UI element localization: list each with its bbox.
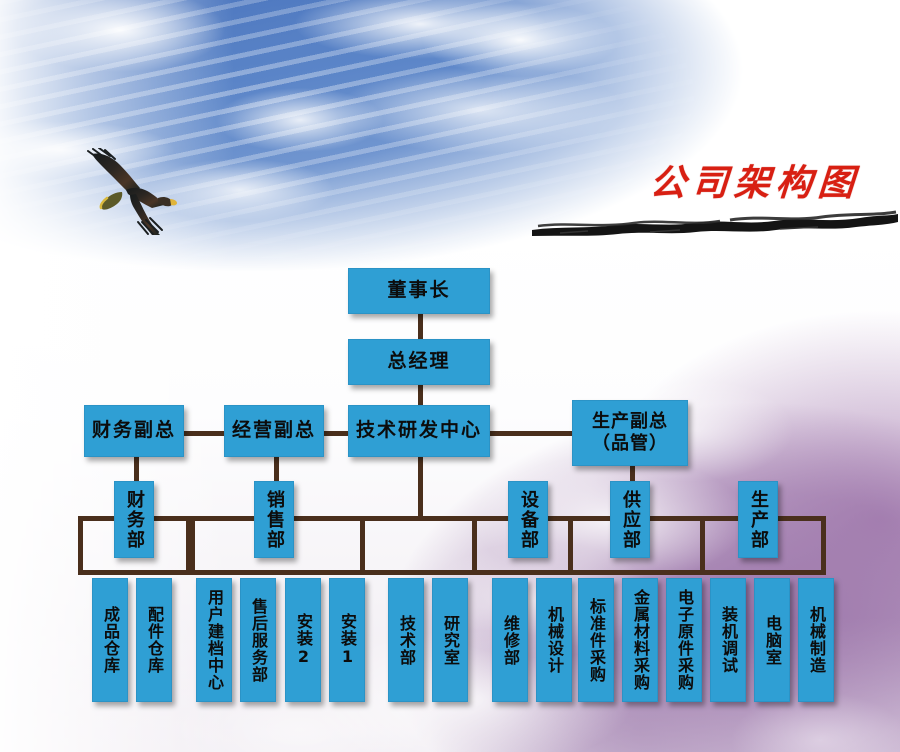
node-customer-filing-center[interactable]: 用户建档中心: [196, 578, 232, 702]
node-finance-dept[interactable]: 财务部: [114, 481, 154, 558]
connector-chairman-to-gm: [418, 312, 423, 340]
connector-ops-vp-drop: [274, 456, 279, 484]
connector-gm-to-rnd: [418, 384, 423, 406]
node-finance-vp[interactable]: 财务副总: [84, 405, 184, 457]
node-label: 电子原件采购: [676, 589, 692, 691]
connector-bracket-equip-end: [568, 516, 573, 572]
node-label: 机械制造: [808, 606, 824, 674]
node-label: 总经理: [387, 350, 450, 374]
connector-finance-vp-drop: [134, 456, 139, 484]
node-production-vp[interactable]: 生产副总 （品管）: [572, 400, 688, 466]
node-parts-warehouse[interactable]: 配件仓库: [136, 578, 172, 702]
connector-leaf-bus-supply: [568, 570, 704, 575]
node-label: 维修部: [502, 615, 518, 666]
node-finished-goods-warehouse[interactable]: 成品仓库: [92, 578, 128, 702]
connector-leaf-bus-rnd: [360, 570, 476, 575]
node-label: 机械设计: [546, 606, 562, 674]
node-metal-material-procurement[interactable]: 金属材料采购: [622, 578, 658, 702]
node-label: 装机调试: [720, 606, 736, 674]
node-electronic-components-procurement[interactable]: 电子原件采购: [666, 578, 702, 702]
node-computer-room[interactable]: 电脑室: [754, 578, 790, 702]
node-rnd-center[interactable]: 技术研发中心: [348, 405, 490, 457]
node-label: 董事长: [387, 279, 450, 303]
node-research-lab[interactable]: 研究室: [432, 578, 468, 702]
screenshot-stage: 公司架构图: [0, 0, 900, 752]
node-standard-parts-procurement[interactable]: 标准件采购: [578, 578, 614, 702]
connector-leaf-bus-sales: [190, 570, 365, 575]
node-operations-vp[interactable]: 经营副总: [224, 405, 324, 457]
node-after-sales-service-dept[interactable]: 售后服务部: [240, 578, 276, 702]
node-label: 研究室: [442, 615, 458, 666]
connector-leaf-bus-warehouse: [78, 570, 190, 575]
node-label: 经营副总: [232, 419, 316, 443]
node-label: 安装1: [339, 613, 355, 667]
node-sales-dept[interactable]: 销售部: [254, 481, 294, 558]
node-label: 用户建档中心: [206, 589, 222, 691]
node-label: 售后服务部: [250, 598, 266, 683]
node-label: 财务副总: [92, 419, 176, 443]
connector-bracket-left-edge: [78, 516, 83, 572]
connector-bracket-supply-end: [700, 516, 705, 572]
node-label: 标准件采购: [588, 598, 604, 683]
node-label: 财务部: [125, 490, 143, 550]
node-assembly-commissioning[interactable]: 装机调试: [710, 578, 746, 702]
node-general-manager[interactable]: 总经理: [348, 339, 490, 385]
node-mechanical-design[interactable]: 机械设计: [536, 578, 572, 702]
connector-vp-bus-right: [488, 431, 576, 436]
node-equipment-dept[interactable]: 设备部: [508, 481, 548, 558]
connector-bracket-sales-start: [190, 516, 195, 572]
node-label: 电脑室: [764, 615, 780, 666]
node-label: 安装2: [295, 613, 311, 667]
node-label: 销售部: [265, 490, 283, 550]
node-label: 技术部: [398, 615, 414, 666]
org-chart: 董事长 总经理 财务副总 经营副总 技术研发中心 生产副总 （品管） 财务部 销…: [0, 0, 900, 752]
connector-bracket-sales-end: [360, 516, 365, 572]
node-maintenance-dept[interactable]: 维修部: [492, 578, 528, 702]
connector-leaf-bus-production: [700, 570, 826, 575]
node-mechanical-manufacturing[interactable]: 机械制造: [798, 578, 834, 702]
node-installation-2[interactable]: 安装2: [285, 578, 321, 702]
node-label: 生产副总 （品管）: [592, 411, 668, 456]
node-label: 设备部: [519, 490, 537, 550]
connector-bracket-rnd-end: [472, 516, 477, 572]
connector-leaf-bus-equipment: [472, 570, 572, 575]
node-chairman[interactable]: 董事长: [348, 268, 490, 314]
node-label: 供应部: [621, 490, 639, 550]
node-label: 技术研发中心: [356, 419, 482, 443]
connector-rnd-drop: [418, 456, 423, 518]
node-label: 成品仓库: [102, 606, 118, 674]
node-label: 配件仓库: [146, 606, 162, 674]
node-technical-dept[interactable]: 技术部: [388, 578, 424, 702]
node-installation-1[interactable]: 安装1: [329, 578, 365, 702]
node-supply-dept[interactable]: 供应部: [610, 481, 650, 558]
connector-bracket-right-edge: [821, 516, 826, 572]
node-production-dept[interactable]: 生产部: [738, 481, 778, 558]
node-label: 金属材料采购: [632, 589, 648, 691]
node-label: 生产部: [749, 490, 767, 550]
